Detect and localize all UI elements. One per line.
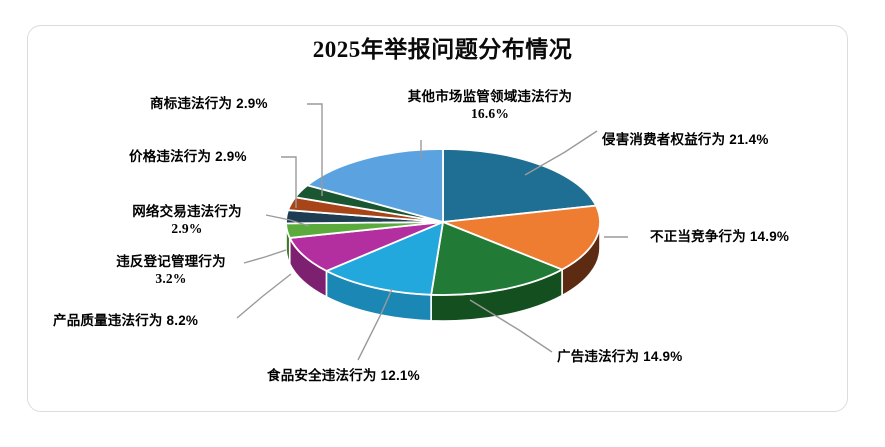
- slice-label-other-line2: 16.6%: [471, 106, 509, 121]
- slice-label-advertising: 广告违法行为 14.9%: [557, 348, 682, 365]
- leader-line-consumer: [525, 131, 597, 175]
- pie-top-faces: 侵害消费者权益行为 21.4%不正当竞争行为 14.9%广告违法行为 14.9%…: [286, 149, 600, 295]
- leader-line-registration: [244, 250, 286, 263]
- slice-label-other-line1: 其他市场监管领域违法行为: [408, 89, 572, 104]
- slice-label-registration: 违反登记管理行为 3.2%: [96, 253, 246, 287]
- slice-label-other: 其他市场监管领域违法行为 16.6%: [370, 88, 610, 122]
- slice-label-food: 食品安全违法行为 12.1%: [267, 367, 420, 384]
- slice-label-quality: 产品质量违法行为 8.2%: [53, 312, 198, 329]
- slice-label-consumer: 侵害消费者权益行为 21.4%: [602, 131, 769, 148]
- slice-label-network: 网络交易违法行为 2.9%: [112, 203, 262, 237]
- slice-label-registration-line1: 违反登记管理行为: [116, 254, 226, 269]
- slice-label-network-line2: 2.9%: [171, 221, 202, 236]
- slice-label-network-line1: 网络交易违法行为: [132, 204, 242, 219]
- slice-label-registration-line2: 3.2%: [155, 271, 186, 286]
- slice-label-price: 价格违法行为 2.9%: [129, 148, 247, 165]
- slice-label-trademark: 商标违法行为 2.9%: [150, 95, 268, 112]
- slice-label-competition: 不正当竞争行为 14.9%: [650, 228, 789, 245]
